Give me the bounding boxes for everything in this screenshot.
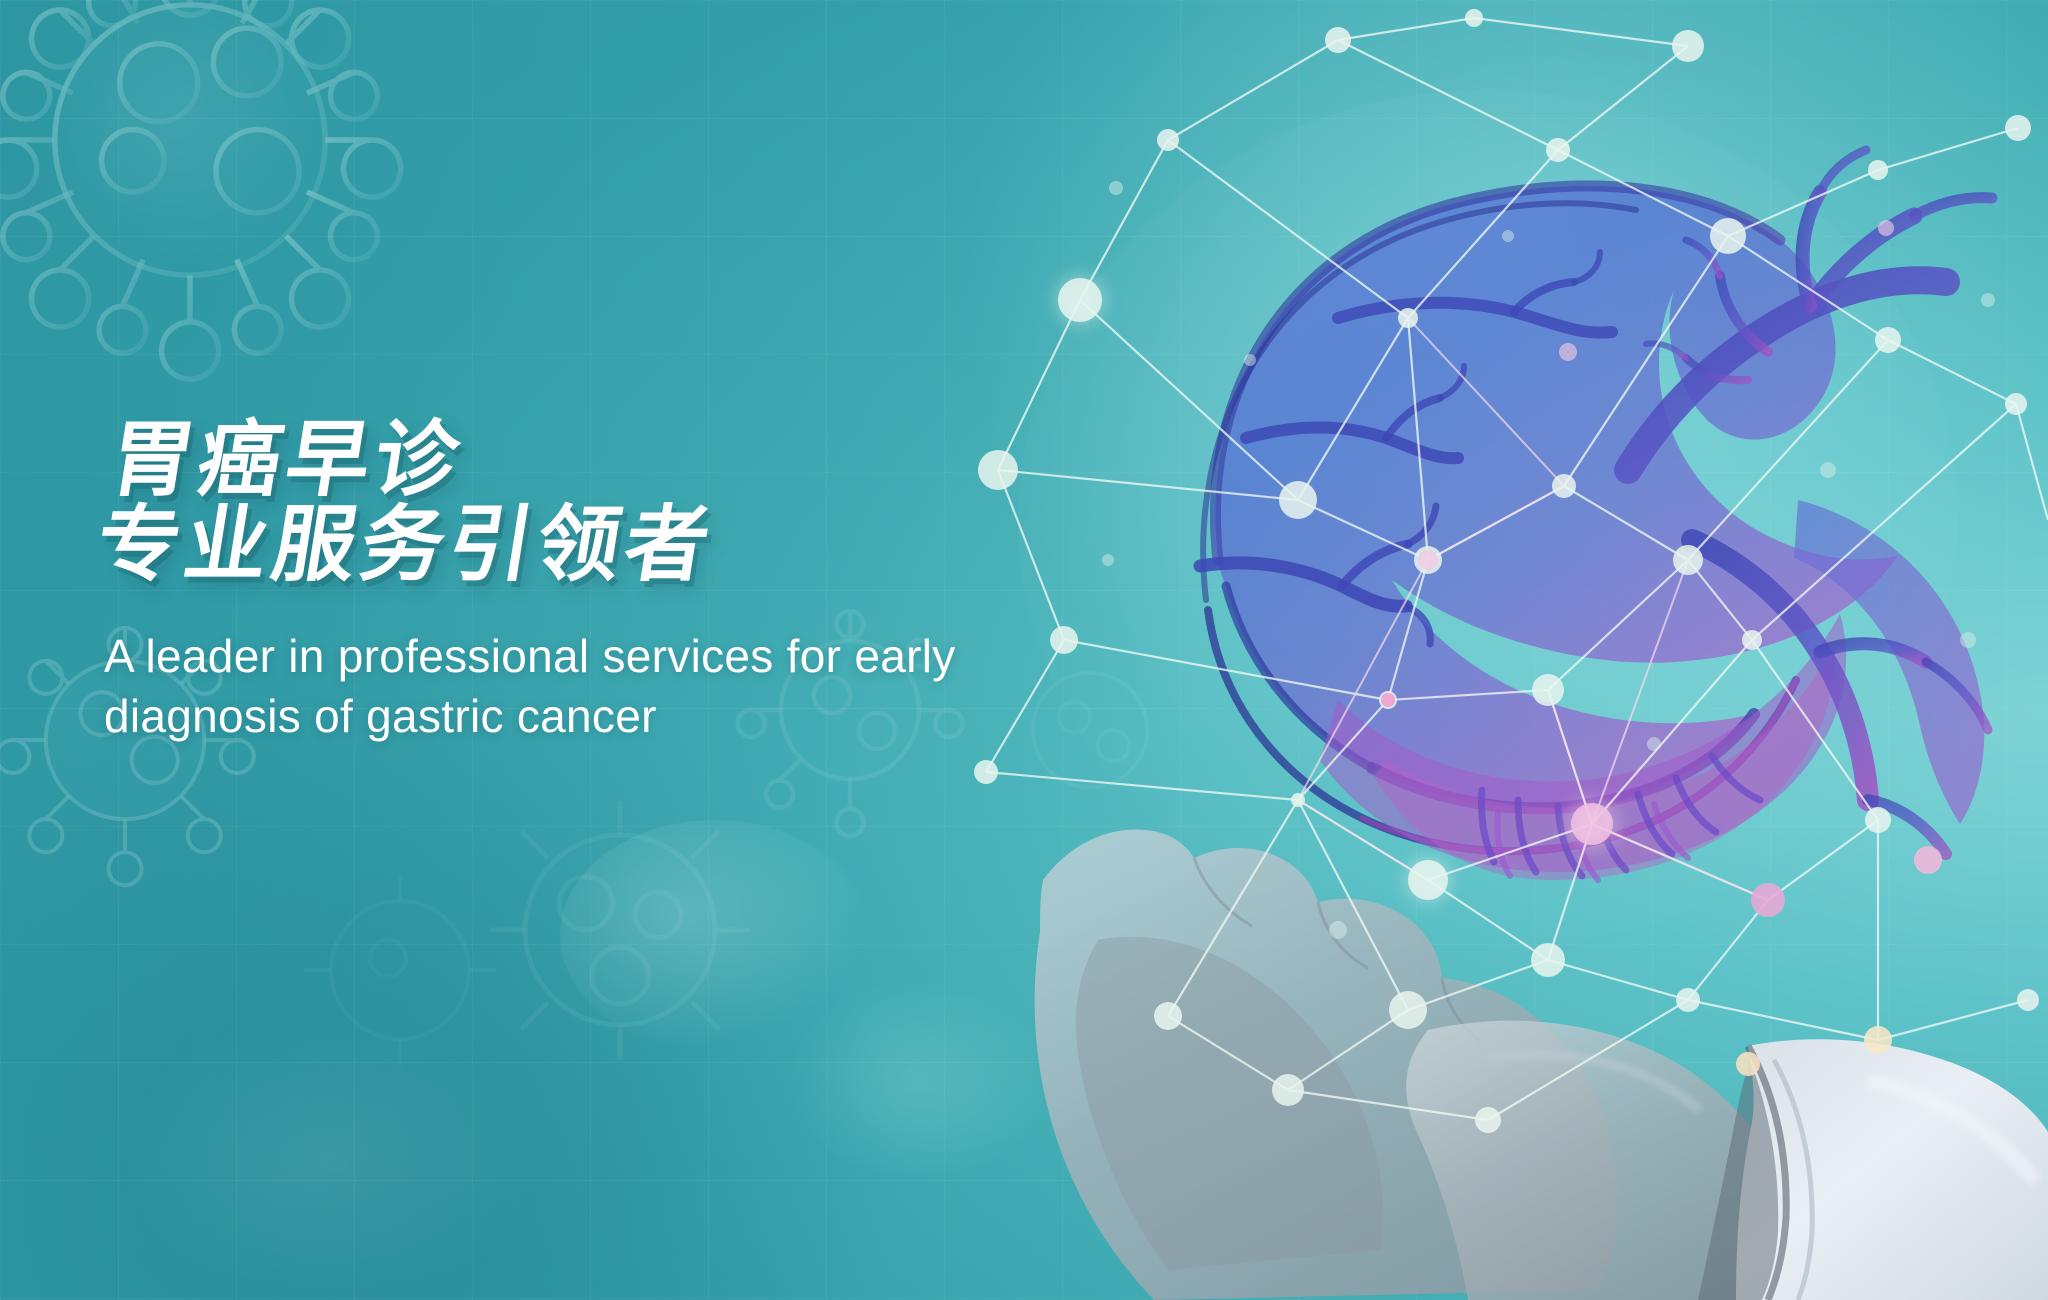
banner-text-block: 胃癌早诊 专业服务引领者 A leader in professional se… bbox=[104, 418, 1154, 793]
headline-line-2: 专业服务引领者 bbox=[90, 496, 721, 593]
headline-line-1: 胃癌早诊 bbox=[103, 411, 470, 508]
virus-cell-watermark-icon bbox=[250, 820, 550, 1120]
page-title: 胃癌早诊 专业服务引领者 bbox=[91, 418, 1168, 587]
gastric-cancer-banner: 胃癌早诊 专业服务引领者 A leader in professional se… bbox=[0, 0, 2048, 1300]
virus-cell-watermark-icon bbox=[0, 0, 470, 400]
banner-subtitle: A leader in professional services for ea… bbox=[104, 627, 1114, 747]
lab-coat-sleeve bbox=[1698, 1039, 2048, 1300]
